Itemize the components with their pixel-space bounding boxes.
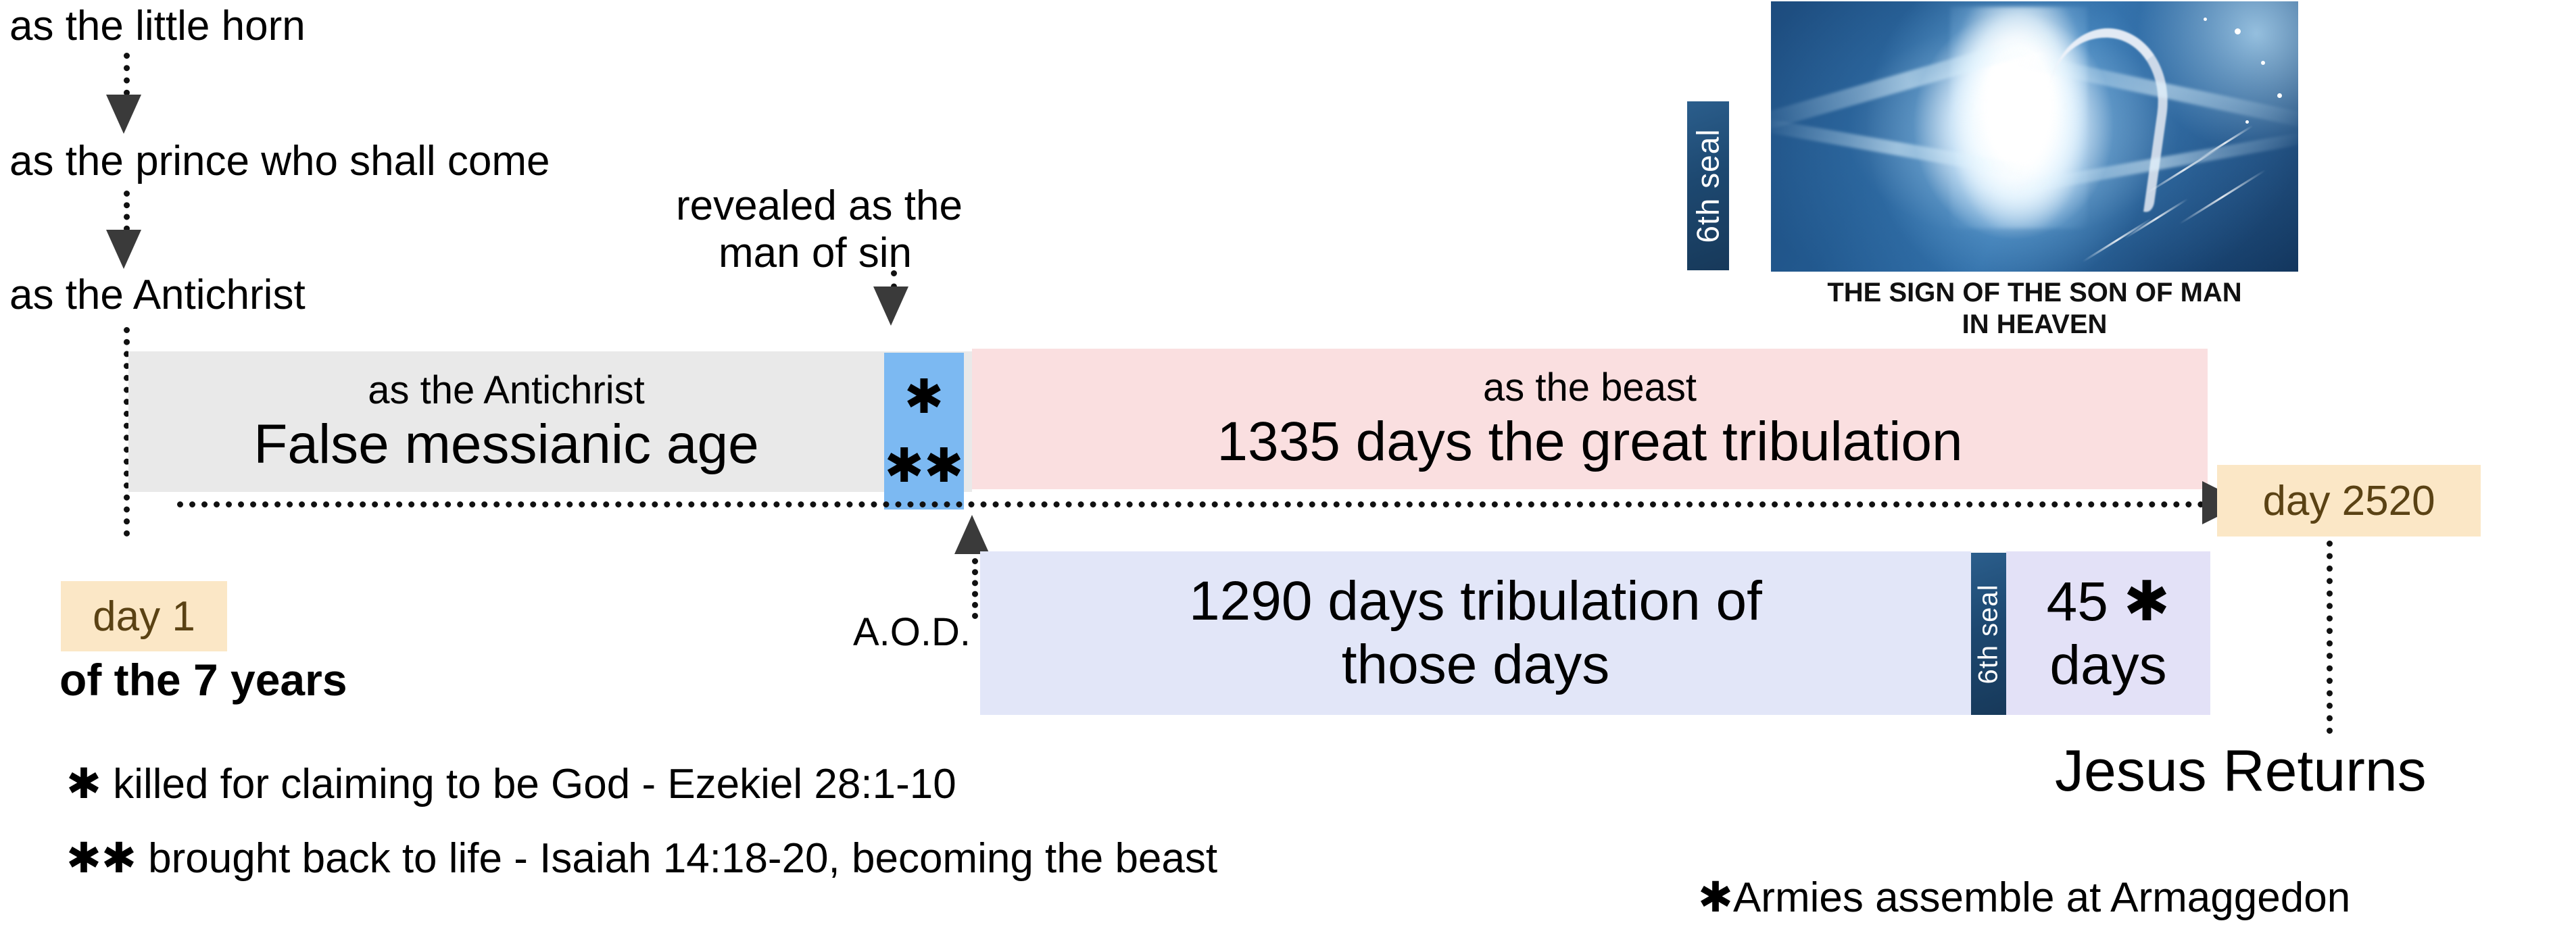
label-prince-who-shall-come: as the prince who shall come (9, 139, 550, 183)
label-antichrist: as the Antichrist (9, 273, 306, 317)
arrow-down-icon-2 (106, 230, 141, 269)
label-little-horn: as the little horn (9, 4, 306, 48)
star-dot (2261, 61, 2265, 65)
badge-6th-seal-bottom-label: 6th seal (1974, 584, 2004, 684)
label-of-the-7-years: of the 7 years (59, 657, 347, 703)
badge-6th-seal-bottom: 6th seal (1971, 553, 2006, 715)
arrow-up-icon-aod (954, 515, 990, 554)
star-dot (2245, 120, 2249, 124)
bar-45-line2: days (2049, 634, 2166, 697)
chip-day-2520: day 2520 (2217, 465, 2481, 537)
cell-man-of-sin-asterisks: ✱ ✱✱ (884, 353, 964, 509)
heaven-caption-line2: IN HEAVEN (1771, 309, 2298, 341)
day-2520-guide-dots (2327, 541, 2333, 734)
bar-1290-days-tribulation: 1290 days tribulation of those days (980, 551, 1971, 715)
badge-6th-seal-top-label: 6th seal (1690, 128, 1726, 243)
heaven-image-caption: THE SIGN OF THE SON OF MAN IN HEAVEN (1771, 277, 2298, 341)
label-revealed-line1: revealed as the (676, 184, 963, 228)
star-dot (2204, 18, 2207, 21)
heaven-caption-line1: THE SIGN OF THE SON OF MAN (1771, 277, 2298, 309)
footnote-double-asterisk: ✱✱ brought back to life - Isaiah 14:18-2… (66, 837, 1217, 880)
label-revealed-line2: man of sin (719, 231, 912, 275)
bar-false-messianic-age: as the Antichrist False messianic age (128, 351, 884, 492)
bar-45-line1: 45 ✱ (2047, 570, 2170, 634)
bar-lav-line2: those days (1342, 633, 1610, 697)
star-dot (2235, 28, 2241, 34)
asterisk-double: ✱✱ (884, 442, 963, 489)
arrow-down-icon-1 (106, 95, 141, 134)
asterisk-single: ✱ (904, 373, 944, 420)
bar-pink-mainlabel: 1335 days the great tribulation (1217, 410, 1962, 474)
star-dot (2277, 93, 2282, 98)
bar-45-days: 45 ✱ days (2006, 551, 2210, 715)
bar-gray-sublabel: as the Antichrist (368, 368, 644, 413)
footnote-single-asterisk: ✱ killed for claiming to be God - Ezekie… (66, 762, 956, 806)
meteor-streak (2083, 218, 2152, 262)
prophecy-timeline-diagram: as the little horn as the prince who sha… (0, 0, 2576, 946)
bar-gray-mainlabel: False messianic age (253, 413, 758, 476)
bar-lav-line1: 1290 days tribulation of (1189, 570, 1762, 633)
chip-day-1: day 1 (61, 581, 227, 651)
timeline-axis-dots (177, 501, 2205, 507)
arrow-down-icon-revealed (873, 287, 908, 326)
badge-6th-seal-top: 6th seal (1687, 101, 1729, 270)
bar-pink-sublabel: as the beast (1483, 365, 1697, 410)
label-jesus-returns: Jesus Returns (2055, 741, 2427, 801)
sign-of-son-of-man-image (1771, 1, 2298, 272)
bar-great-tribulation: as the beast 1335 days the great tribula… (972, 349, 2208, 489)
footnote-armies-armageddon: ✱Armies assemble at Armaggedon (1698, 876, 2350, 920)
meteor-streak (2179, 169, 2266, 224)
